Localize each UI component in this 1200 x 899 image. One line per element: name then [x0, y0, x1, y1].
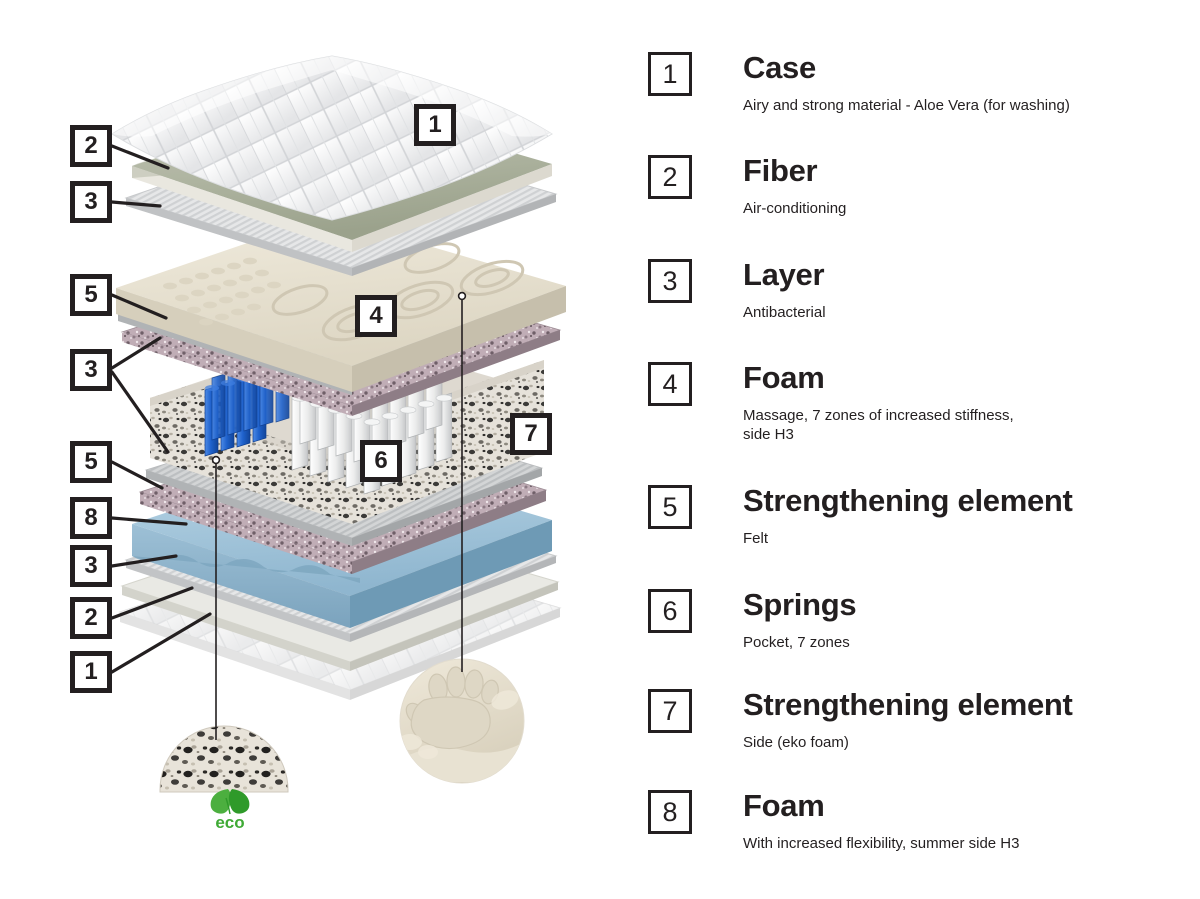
callout-foam-overlay[interactable]: 4 — [355, 295, 397, 337]
callout-felt-upper[interactable]: 5 — [70, 274, 112, 316]
legend-item-springs[interactable]: 6 Springs Pocket, 7 zones — [648, 583, 1188, 683]
legend-title: Layer — [743, 257, 824, 293]
diagram-canvas: eco 2 3 5 3 5 8 3 2 1 1 4 6 7 1 Case Air… — [0, 0, 1200, 899]
callout-number: 3 — [84, 554, 97, 578]
legend-number-box: 7 — [648, 689, 692, 733]
callout-foam-blue[interactable]: 8 — [70, 497, 112, 539]
callout-case-overlay[interactable]: 1 — [414, 104, 456, 146]
legend-title: Springs — [743, 587, 856, 623]
legend-title: Foam — [743, 788, 824, 824]
legend-item-strengthening-side[interactable]: 7 Strengthening element Side (eko foam) — [648, 683, 1188, 784]
legend-number: 2 — [662, 164, 677, 191]
eco-leaf-icon: eco — [195, 786, 265, 830]
legend-title: Case — [743, 50, 816, 86]
legend-description: Massage, 7 zones of increased stiffness,… — [743, 406, 1014, 444]
legend-number-box: 4 — [648, 362, 692, 406]
callout-number: 5 — [84, 283, 97, 307]
detail-circle-eco-foam — [160, 726, 288, 792]
legend-item-fiber[interactable]: 2 Fiber Air-conditioning — [648, 149, 1188, 253]
callout-fiber-top[interactable]: 2 — [70, 125, 112, 167]
legend-item-foam-flex[interactable]: 8 Foam With increased flexibility, summe… — [648, 784, 1188, 884]
callout-layer-top[interactable]: 3 — [70, 181, 112, 223]
callout-springs-overlay[interactable]: 6 — [360, 440, 402, 482]
legend-description: Felt — [743, 529, 768, 548]
detail-circle-massage-foam — [398, 659, 524, 783]
callout-number: 2 — [84, 134, 97, 158]
legend-number: 6 — [662, 598, 677, 625]
callout-case-bottom[interactable]: 1 — [70, 651, 112, 693]
legend-list: 1 Case Airy and strong material - Aloe V… — [648, 44, 1188, 884]
legend-item-foam-massage[interactable]: 4 Foam Massage, 7 zones of increased sti… — [648, 356, 1188, 479]
legend-description: Airy and strong material - Aloe Vera (fo… — [743, 96, 1070, 115]
callout-side-overlay[interactable]: 7 — [510, 413, 552, 455]
callout-layer-bottom[interactable]: 3 — [70, 545, 112, 587]
legend-number: 1 — [662, 61, 677, 88]
callout-felt-lower[interactable]: 5 — [70, 441, 112, 483]
legend-number: 4 — [662, 371, 677, 398]
callout-number: 6 — [374, 449, 387, 473]
eco-badge-label: eco — [215, 813, 244, 830]
callout-number: 3 — [84, 190, 97, 214]
legend-description: Pocket, 7 zones — [743, 633, 850, 652]
legend-title: Foam — [743, 360, 824, 396]
legend-number: 3 — [662, 268, 677, 295]
callout-number: 1 — [428, 113, 441, 137]
legend-number-box: 1 — [648, 52, 692, 96]
callout-number: 4 — [369, 304, 382, 328]
callout-number: 3 — [84, 358, 97, 382]
callout-number: 1 — [84, 660, 97, 684]
legend-item-layer[interactable]: 3 Layer Antibacterial — [648, 253, 1188, 356]
callout-fiber-bottom[interactable]: 2 — [70, 597, 112, 639]
legend-number-box: 8 — [648, 790, 692, 834]
legend-title: Strengthening element — [743, 687, 1073, 723]
callout-number: 5 — [84, 450, 97, 474]
legend-number: 7 — [662, 698, 677, 725]
legend-number-box: 6 — [648, 589, 692, 633]
legend-item-strengthening-felt[interactable]: 5 Strengthening element Felt — [648, 479, 1188, 583]
legend-number-box: 3 — [648, 259, 692, 303]
callout-number: 2 — [84, 606, 97, 630]
legend-number-box: 5 — [648, 485, 692, 529]
callout-number: 7 — [524, 422, 537, 446]
legend-number: 8 — [662, 799, 677, 826]
eco-badge: eco — [195, 786, 265, 830]
legend-description: Air-conditioning — [743, 199, 846, 218]
legend-description: Antibacterial — [743, 303, 826, 322]
legend-title: Fiber — [743, 153, 817, 189]
legend-title: Strengthening element — [743, 483, 1073, 519]
legend-number-box: 2 — [648, 155, 692, 199]
callout-number: 8 — [84, 506, 97, 530]
legend-item-case[interactable]: 1 Case Airy and strong material - Aloe V… — [648, 44, 1188, 149]
legend-number: 5 — [662, 494, 677, 521]
legend-description: Side (eko foam) — [743, 733, 849, 752]
callout-layer-mid[interactable]: 3 — [70, 349, 112, 391]
legend-description: With increased flexibility, summer side … — [743, 834, 1019, 853]
